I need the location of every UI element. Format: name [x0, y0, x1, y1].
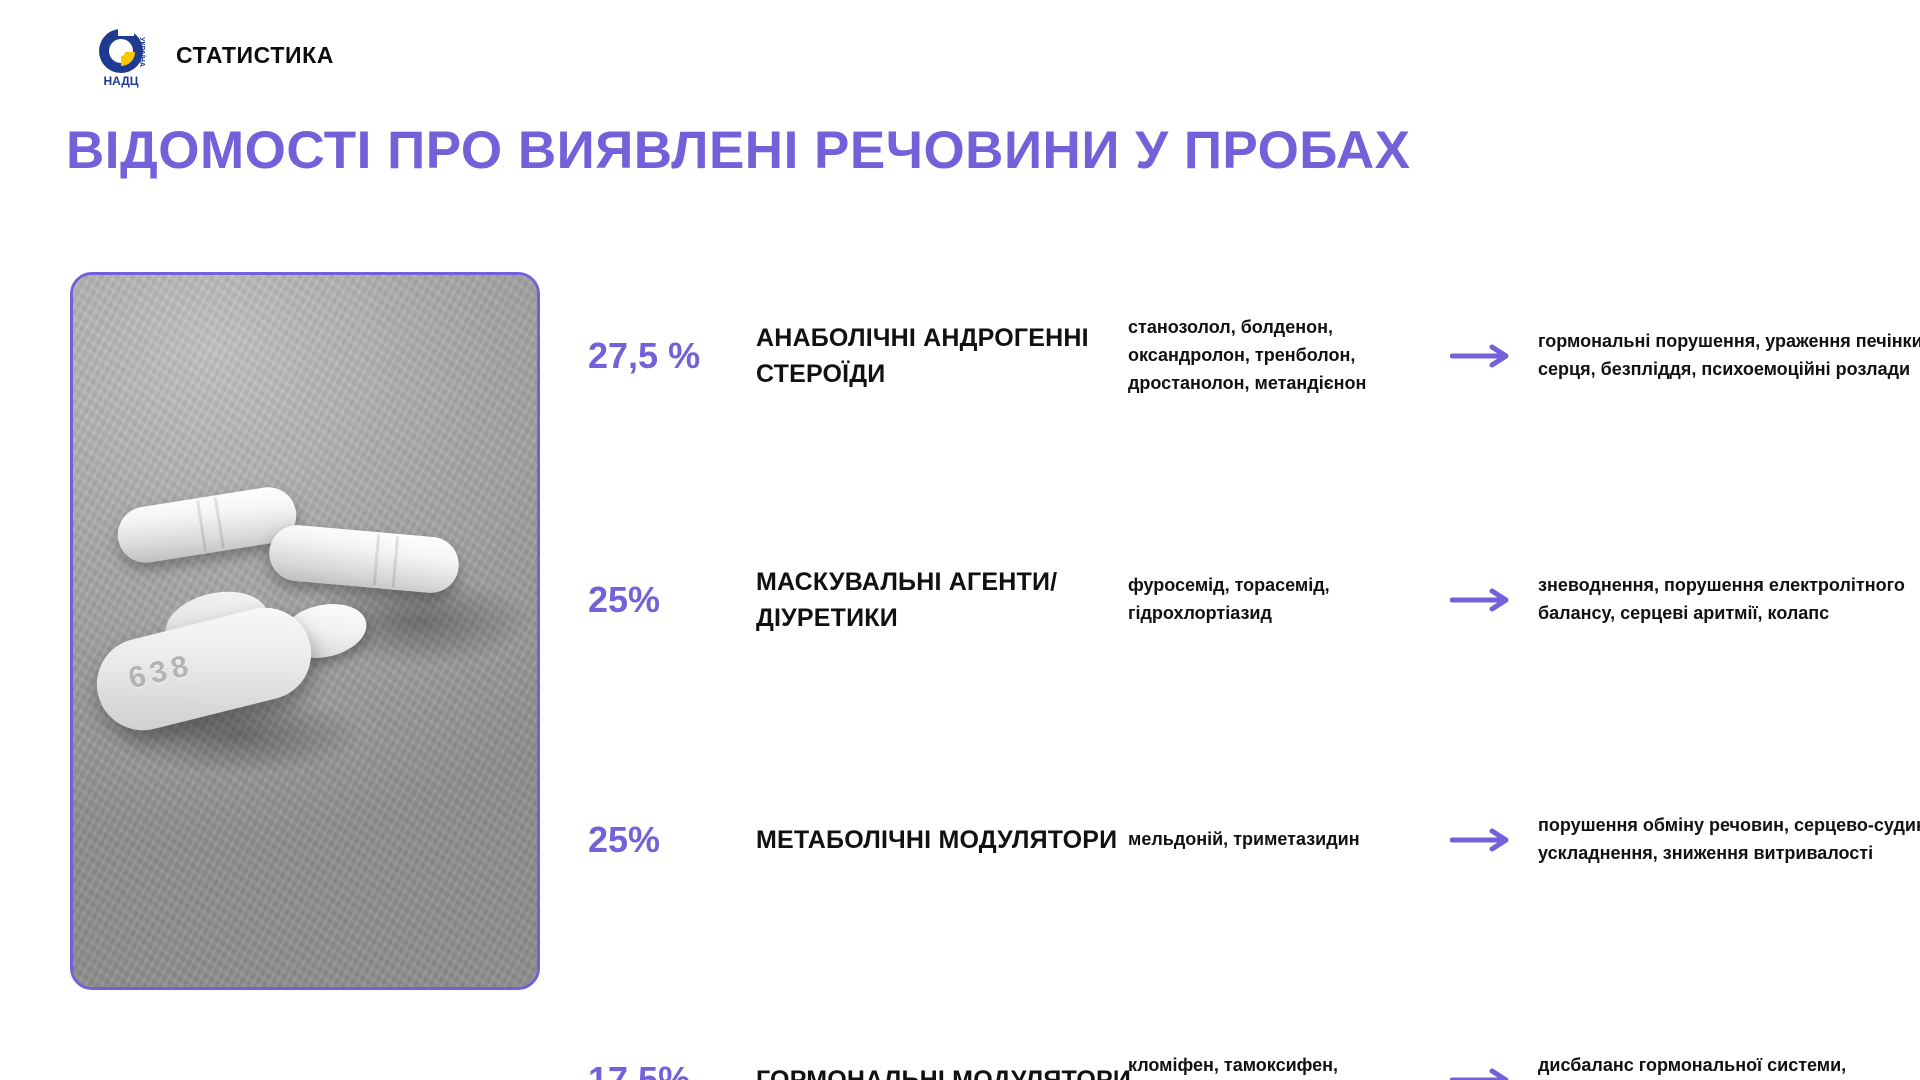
slide-root: НАДЦ УКРАЇНА СТАТИСТИКА ВІДОМОСТІ ПРО ВИ… [0, 0, 1920, 1080]
table-row: 25% МАСКУВАЛЬНІ АГЕНТИ/ ДІУРЕТИКИ фуросе… [588, 550, 1888, 650]
arrow-right-icon [1450, 1067, 1514, 1080]
header-label: СТАТИСТИКА [176, 42, 334, 69]
nadc-ukraine-logo-icon: НАДЦ УКРАЇНА [88, 22, 154, 88]
table-row: 17,5% ГОРМОНАЛЬНІ МОДУЛЯТОРИ кломіфен, т… [588, 1030, 1888, 1080]
substance-rows: 27,5 % АНАБОЛІЧНІ АНДРОГЕННІ СТЕРОЇДИ ст… [588, 272, 1888, 772]
row-effects: зневоднення, порушення електролітного ба… [1538, 572, 1920, 628]
row-substances: мельдоній, триметазидин [1128, 826, 1428, 854]
row-percent: 17,5% [588, 1059, 738, 1080]
page-title: ВІДОМОСТІ ПРО ВИЯВЛЕНІ РЕЧОВИНИ У ПРОБАХ [66, 120, 1411, 181]
row-effects: дисбаланс гормональної системи, репродук… [1538, 1052, 1920, 1080]
header: НАДЦ УКРАЇНА СТАТИСТИКА [88, 22, 334, 88]
row-category: ГОРМОНАЛЬНІ МОДУЛЯТОРИ [756, 1062, 1136, 1080]
pills-photo: 638 [70, 272, 540, 990]
row-substances: станозолол, болденон, оксандролон, тренб… [1128, 314, 1428, 398]
row-category: АНАБОЛІЧНІ АНДРОГЕННІ СТЕРОЇДИ [756, 320, 1136, 393]
row-substances: фуросемід, торасемід, гідрохлортіазид [1128, 572, 1428, 628]
row-substances: кломіфен, тамоксифен, летрозол, анастроз… [1128, 1052, 1428, 1080]
tablet-emboss-text: 638 [126, 649, 197, 697]
row-percent: 25% [588, 819, 738, 861]
row-effects: гормональні порушення, ураження печінки … [1538, 328, 1920, 384]
row-category: МАСКУВАЛЬНІ АГЕНТИ/ ДІУРЕТИКИ [756, 564, 1136, 637]
row-percent: 27,5 % [588, 335, 738, 377]
arrow-right-icon [1450, 827, 1514, 853]
photo-content: 638 [73, 275, 537, 987]
svg-text:НАДЦ: НАДЦ [103, 74, 138, 88]
row-effects: порушення обміну речовин, серцево-судинн… [1538, 812, 1920, 868]
svg-text:УКРАЇНА: УКРАЇНА [138, 37, 146, 67]
arrow-right-icon [1450, 343, 1514, 369]
arrow-right-icon [1450, 587, 1514, 613]
row-percent: 25% [588, 579, 738, 621]
table-row: 27,5 % АНАБОЛІЧНІ АНДРОГЕННІ СТЕРОЇДИ ст… [588, 306, 1888, 406]
row-category: МЕТАБОЛІЧНІ МОДУЛЯТОРИ [756, 822, 1136, 858]
table-row: 25% МЕТАБОЛІЧНІ МОДУЛЯТОРИ мельдоній, тр… [588, 790, 1888, 890]
